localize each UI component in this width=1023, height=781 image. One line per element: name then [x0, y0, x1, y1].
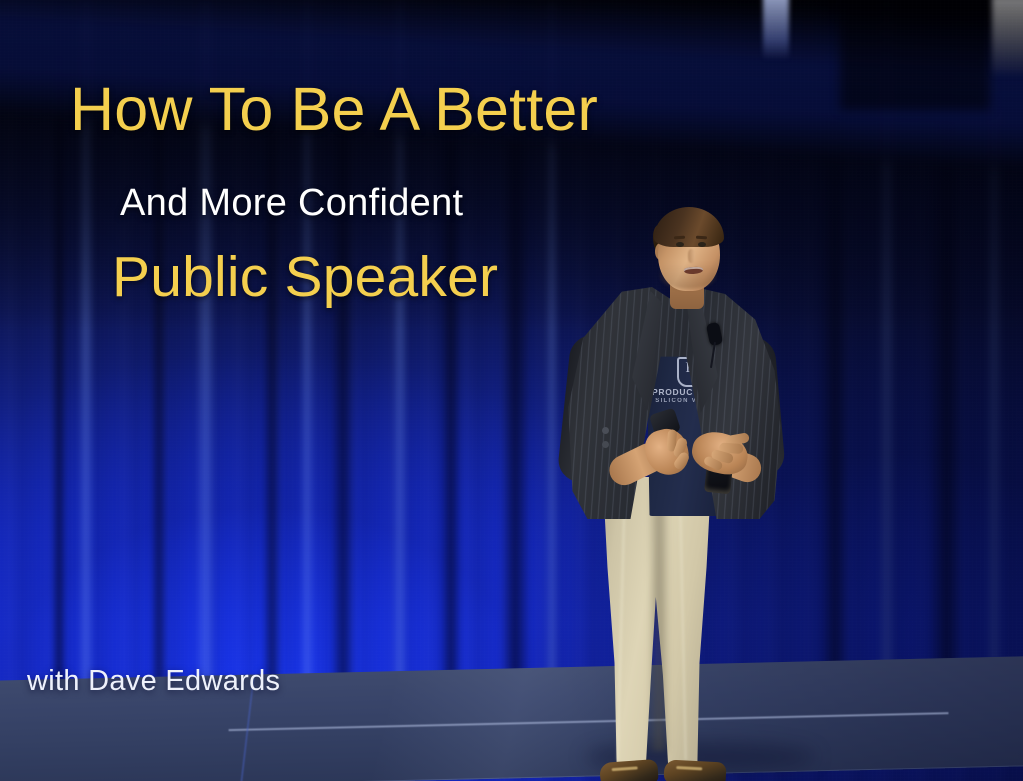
eye-right: [698, 242, 706, 247]
title-slide: PRODUCT SCHOOL SILICON VALLEY: [0, 0, 1023, 781]
shoe-lace-right: [676, 766, 702, 770]
title-line-3: Public Speaker: [112, 249, 498, 306]
shoe-left: [599, 759, 659, 781]
byline-credit: with Dave Edwards: [27, 667, 280, 696]
title-line-1: How To Be A Better: [70, 79, 598, 140]
title-line-2: And More Confident: [120, 184, 463, 222]
nose: [688, 249, 695, 263]
hair: [654, 207, 724, 247]
eyebrow-right: [696, 236, 707, 240]
speaker-photo: PRODUCT SCHOOL SILICON VALLEY: [560, 205, 810, 781]
trouser-inseam-shadow: [648, 481, 670, 751]
eye-left: [676, 242, 684, 247]
shoe-right: [663, 759, 726, 781]
blazer-button: [602, 427, 609, 434]
shoe-lace-left: [612, 766, 638, 771]
